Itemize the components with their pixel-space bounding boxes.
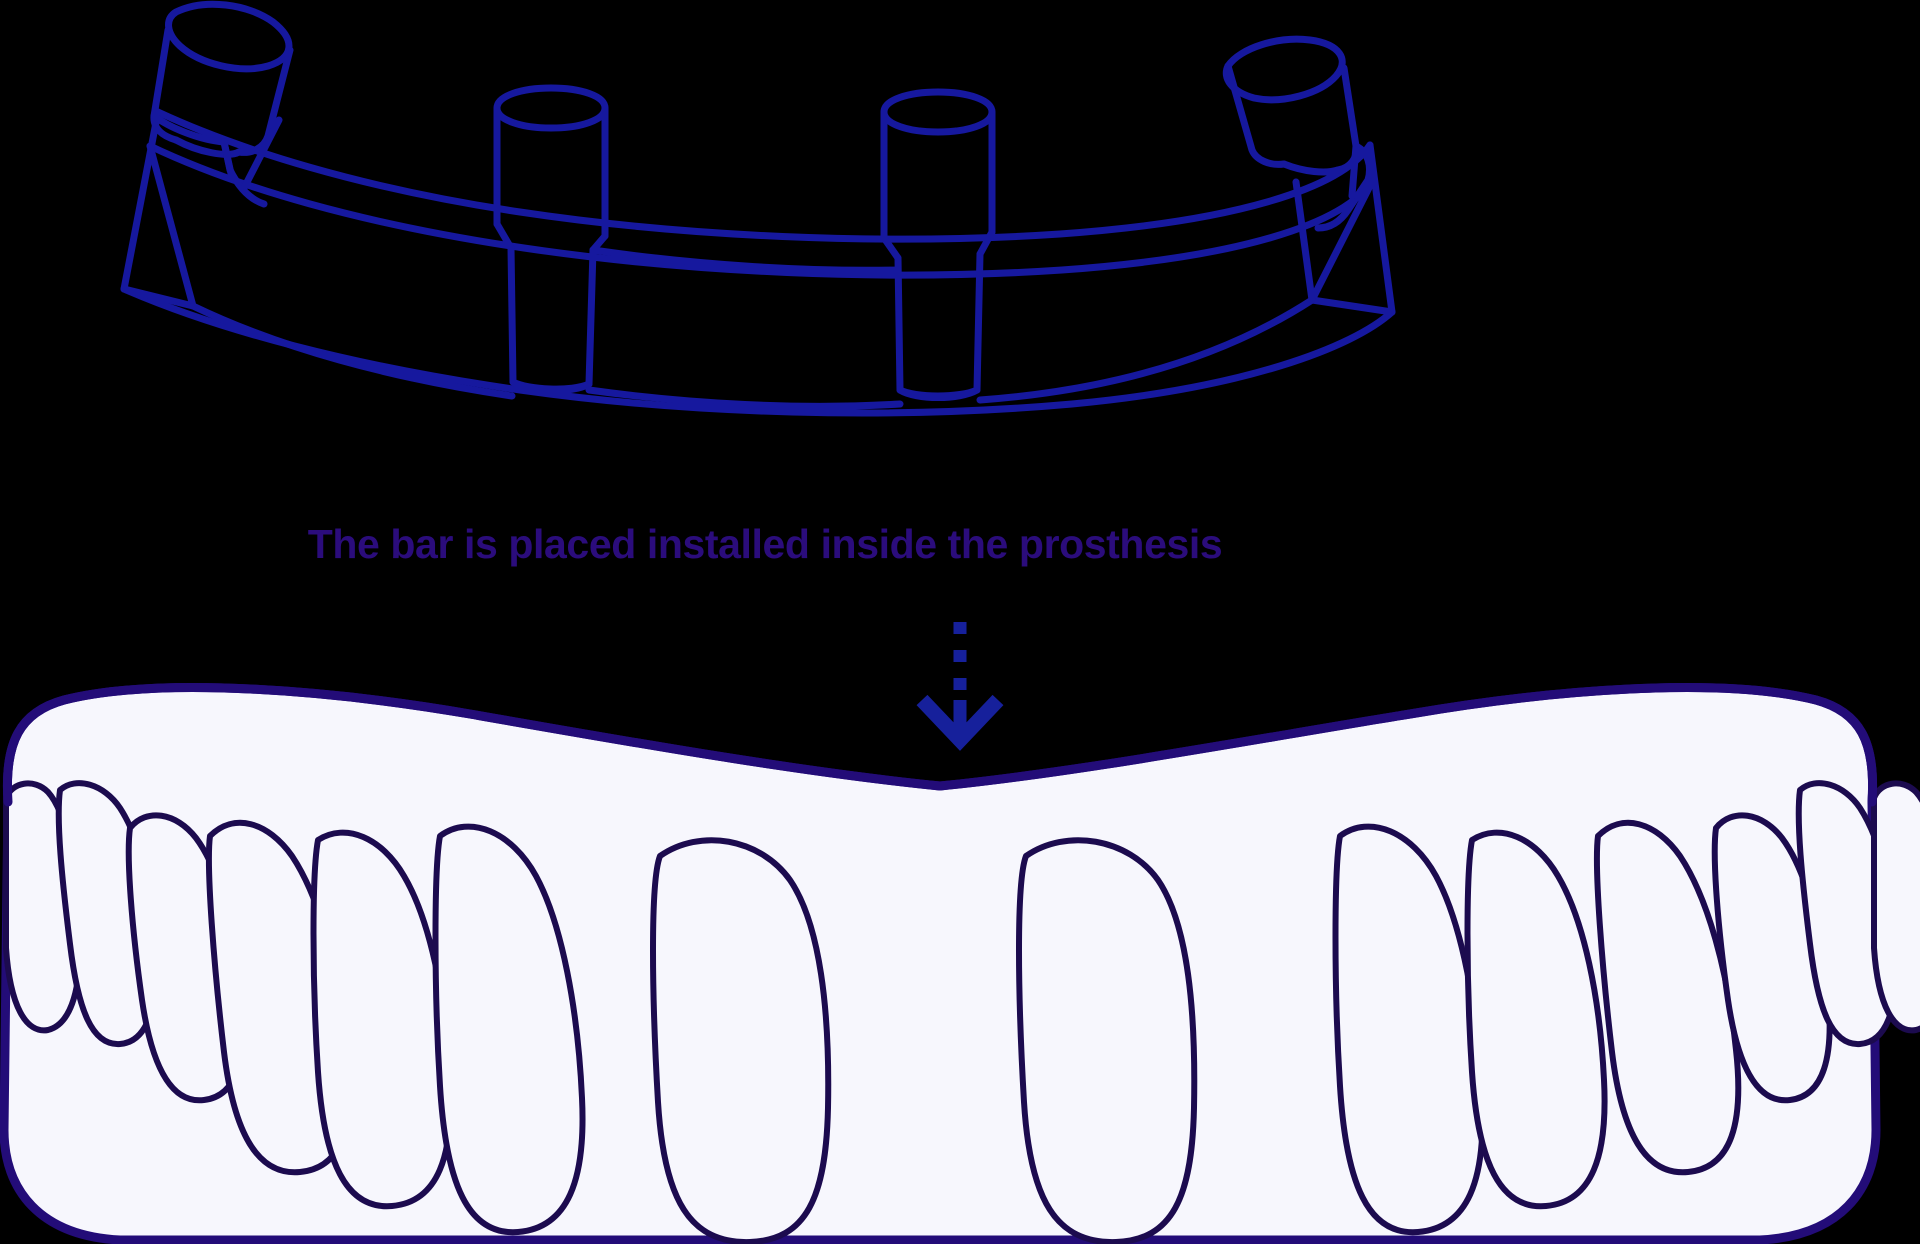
prosthesis-illustration bbox=[0, 0, 1920, 1244]
tooth-14 bbox=[1874, 783, 1920, 1030]
tooth-7 bbox=[653, 840, 828, 1242]
diagram-canvas: The bar is placed installed inside the p… bbox=[0, 0, 1920, 1244]
tooth-8 bbox=[1019, 840, 1194, 1242]
